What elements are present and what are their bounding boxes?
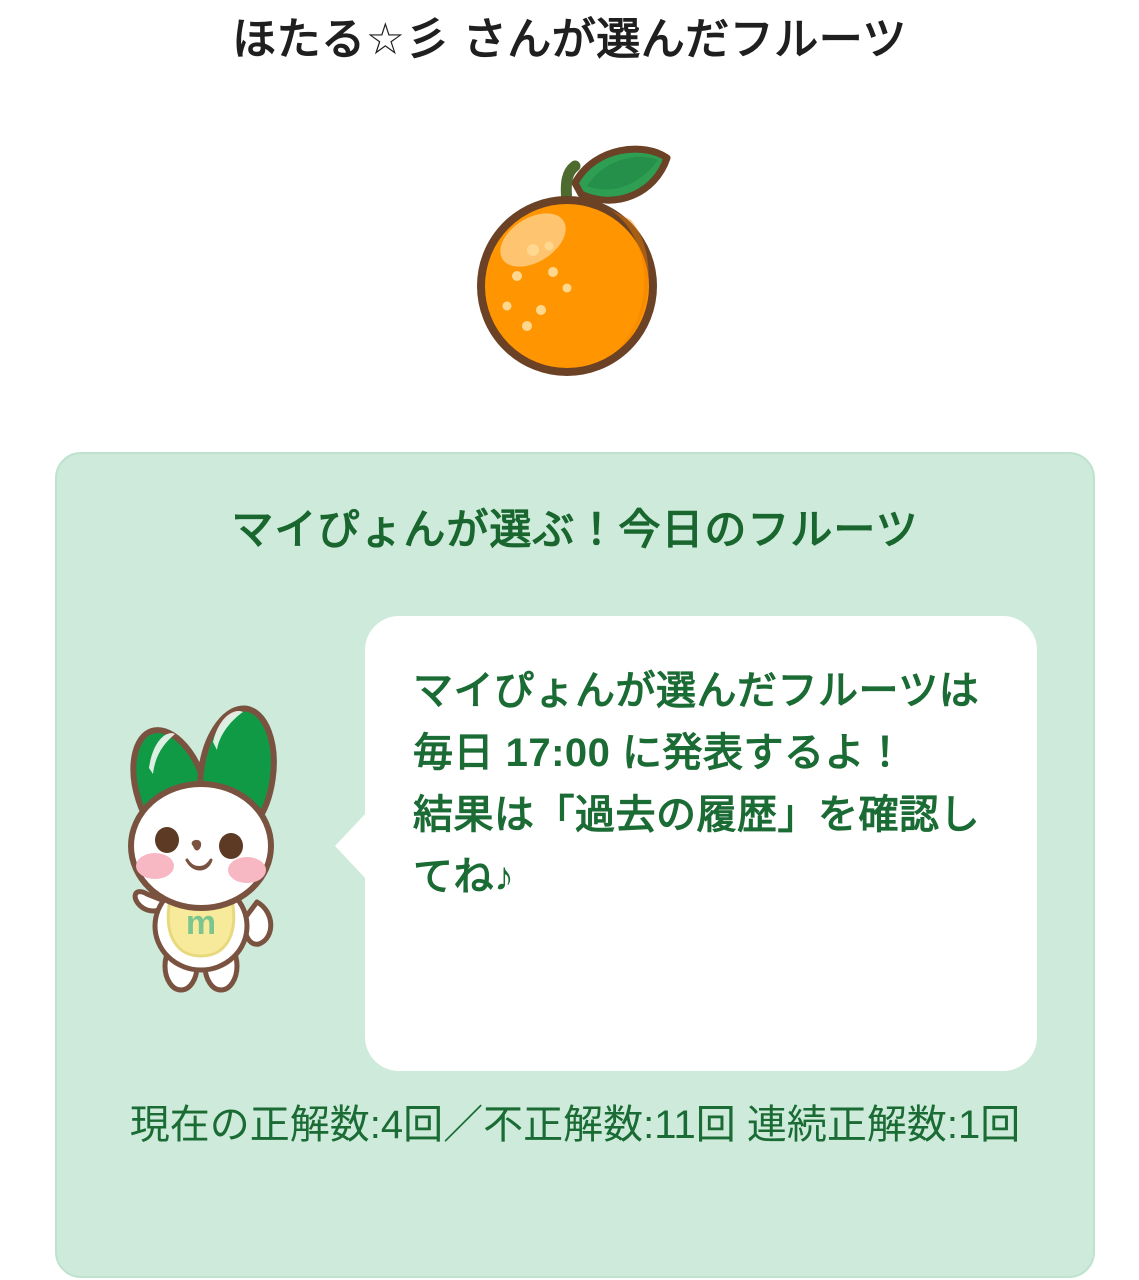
mascot-speech-bubble: マイぴょんが選んだフルーツは毎日 17:00 に発表するよ！ 結果は「過去の履歴…	[365, 616, 1037, 1071]
orange-fruit-icon	[455, 128, 685, 378]
mascot-illustration: m	[109, 694, 339, 1004]
page-title: ほたる☆彡 さんが選んだフルーツ	[0, 12, 1139, 67]
daily-fruit-card: マイぴょんが選ぶ！今日のフルーツ m	[55, 452, 1095, 1278]
selected-fruit-illustration	[0, 120, 1139, 385]
card-title: マイぴょんが選ぶ！今日のフルーツ	[57, 496, 1093, 557]
speech-bubble-tail	[335, 812, 367, 880]
stats-summary: 現在の正解数:4回／不正解数:11回 連続正解数:1回	[97, 1094, 1053, 1156]
rabbit-mascot-icon: m	[109, 694, 339, 1004]
fruit-result-page: ほたる☆彡 さんが選んだフルーツ マイぴょ	[0, 0, 1139, 1280]
speech-bubble-message: マイぴょんが選んだフルーツは毎日 17:00 に発表するよ！ 結果は「過去の履歴…	[413, 660, 997, 908]
